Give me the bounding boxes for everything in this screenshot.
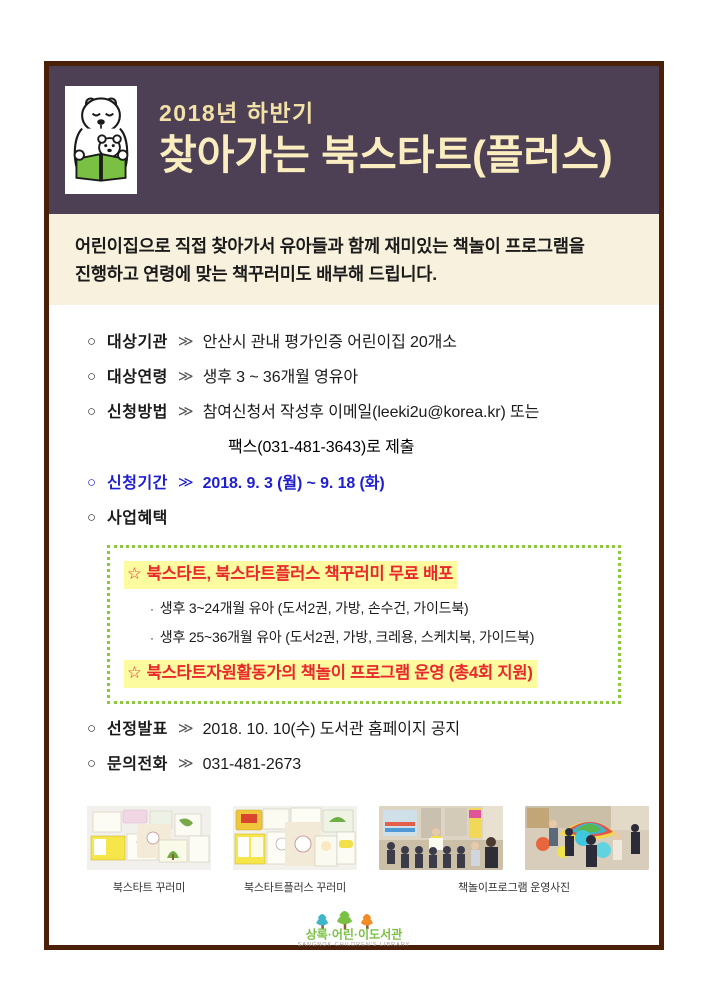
- parachute-play-photo: [525, 806, 649, 870]
- photo-caption-2: 북스타트플러스 꾸러미: [233, 879, 357, 895]
- header-subtitle: 2018년 하반기: [159, 101, 613, 126]
- library-logo-korean: 상록·어린·이도서관: [306, 926, 403, 941]
- circle-bullet-icon: ○: [87, 718, 107, 741]
- bookstart-plus-bundle-photo: [233, 806, 357, 870]
- bookstart-bundle-photo: [87, 806, 211, 870]
- star-icon: ☆: [127, 565, 142, 583]
- poster-root: 2018년 하반기 찾아가는 북스타트(플러스) 어린이집으로 직접 찾아가서 …: [0, 0, 707, 1000]
- poster-body: ○ 대상기관 ≫ 안산시 관내 평가인증 어린이집 20개소 ○ 대상연령 ≫ …: [49, 305, 659, 788]
- photo-captions: 북스타트 꾸러미 북스타트플러스 꾸러미 책놀이프로그램 운영사진: [49, 870, 659, 895]
- poster-frame: 2018년 하반기 찾아가는 북스타트(플러스) 어린이집으로 직접 찾아가서 …: [44, 61, 664, 950]
- benefit-heading-1-text: 북스타트, 북스타트플러스 책꾸러미 무료 배포: [147, 565, 454, 583]
- circle-bullet-icon: ○: [87, 401, 107, 424]
- circle-bullet-icon: ○: [87, 753, 107, 776]
- double-chevron-icon: ≫: [168, 366, 203, 389]
- benefit-detail-1: ·생후 3~24개월 유아 (도서2권, 가방, 손수건, 가이드북): [150, 598, 604, 618]
- double-chevron-icon: ≫: [168, 753, 203, 776]
- circle-bullet-icon: ○: [87, 472, 107, 495]
- detail-value: 031-481-2673: [203, 753, 301, 777]
- intro-line-2: 진행하고 연령에 맞는 책꾸러미도 배부해 드립니다.: [75, 260, 635, 288]
- benefit-heading-2-text: 북스타트자원활동가의 책놀이 프로그램 운영 (총4회 지원): [147, 664, 533, 682]
- detail-row-target-age: ○ 대상연령 ≫ 생후 3 ~ 36개월 영유아: [87, 366, 629, 390]
- double-chevron-icon: ≫: [168, 401, 203, 424]
- benefit-detail-2-text: 생후 25~36개월 유아 (도서2권, 가방, 크레용, 스케치북, 가이드북…: [160, 629, 534, 645]
- detail-value: 안산시 관내 평가인증 어린이집 20개소: [203, 331, 457, 355]
- detail-value: 2018. 10. 10(수) 도서관 홈페이지 공지: [203, 718, 460, 742]
- intro-band: 어린이집으로 직접 찾아가서 유아들과 함께 재미있는 책놀이 프로그램을 진행…: [49, 214, 659, 305]
- detail-row-target-institution: ○ 대상기관 ≫ 안산시 관내 평가인증 어린이집 20개소: [87, 331, 629, 355]
- dot-bullet-icon: ·: [150, 602, 154, 616]
- double-chevron-icon: ≫: [168, 331, 203, 354]
- detail-value-continued: 팩스(031-481-3643)로 제출: [228, 436, 629, 460]
- detail-label: 신청방법: [107, 401, 168, 425]
- circle-bullet-icon: ○: [87, 366, 107, 389]
- detail-value: 2018. 9. 3 (월) ~ 9. 18 (화): [203, 472, 385, 496]
- benefit-heading-1: ☆북스타트, 북스타트플러스 책꾸러미 무료 배포: [124, 561, 457, 589]
- detail-value: 생후 3 ~ 36개월 영유아: [203, 366, 358, 390]
- benefit-heading-2: ☆북스타트자원활동가의 책놀이 프로그램 운영 (총4회 지원): [124, 660, 537, 688]
- benefits-box: ☆북스타트, 북스타트플러스 책꾸러미 무료 배포 ·생후 3~24개월 유아 …: [107, 545, 621, 704]
- double-chevron-icon: ≫: [168, 718, 203, 741]
- detail-label: 대상연령: [107, 366, 168, 390]
- detail-value: 참여신청서 작성후 이메일(leeki2u@korea.kr) 또는: [203, 401, 540, 425]
- page-title: 찾아가는 북스타트(플러스): [159, 133, 613, 179]
- benefit-detail-2: ·생후 25~36개월 유아 (도서2권, 가방, 크레용, 스케치북, 가이드…: [150, 627, 604, 647]
- detail-label: 선정발표: [107, 718, 168, 742]
- circle-bullet-icon: ○: [87, 507, 107, 530]
- photo-caption-1: 북스타트 꾸러미: [87, 879, 211, 895]
- library-logo-english: SANGNOK CHILDREN'S LIBRARY: [298, 942, 411, 948]
- detail-row-application-method: ○ 신청방법 ≫ 참여신청서 작성후 이메일(leeki2u@korea.kr)…: [87, 401, 629, 425]
- library-logo: 상록·어린·이도서관 SANGNOK CHILDREN'S LIBRARY: [268, 909, 440, 949]
- detail-row-contact-phone: ○ 문의전화 ≫ 031-481-2673: [87, 753, 629, 777]
- double-chevron-icon: ≫: [168, 472, 203, 495]
- photo-strip: [49, 788, 659, 870]
- detail-label: 문의전화: [107, 753, 168, 777]
- detail-row-benefits: ○ 사업혜택: [87, 507, 629, 531]
- detail-label: 대상기관: [107, 331, 168, 355]
- benefit-detail-1-text: 생후 3~24개월 유아 (도서2권, 가방, 손수건, 가이드북): [160, 600, 469, 616]
- detail-row-application-period: ○ 신청기간 ≫ 2018. 9. 3 (월) ~ 9. 18 (화): [87, 472, 629, 496]
- detail-label: 사업혜택: [107, 507, 168, 531]
- poster-header: 2018년 하반기 찾아가는 북스타트(플러스): [49, 66, 659, 214]
- detail-row-announcement: ○ 선정발표 ≫ 2018. 10. 10(수) 도서관 홈페이지 공지: [87, 718, 629, 742]
- circle-bullet-icon: ○: [87, 331, 107, 354]
- dot-bullet-icon: ·: [150, 631, 154, 645]
- mother-bear-reading-book-logo: [65, 86, 137, 194]
- photo-caption-3: 책놀이프로그램 운영사진: [379, 879, 649, 895]
- footer: 상록·어린·이도서관 SANGNOK CHILDREN'S LIBRARY: [49, 895, 659, 949]
- detail-label: 신청기간: [107, 472, 168, 496]
- classroom-storytime-photo: [379, 806, 503, 870]
- star-icon: ☆: [127, 664, 142, 682]
- intro-line-1: 어린이집으로 직접 찾아가서 유아들과 함께 재미있는 책놀이 프로그램을: [75, 232, 635, 260]
- header-text-block: 2018년 하반기 찾아가는 북스타트(플러스): [159, 101, 613, 178]
